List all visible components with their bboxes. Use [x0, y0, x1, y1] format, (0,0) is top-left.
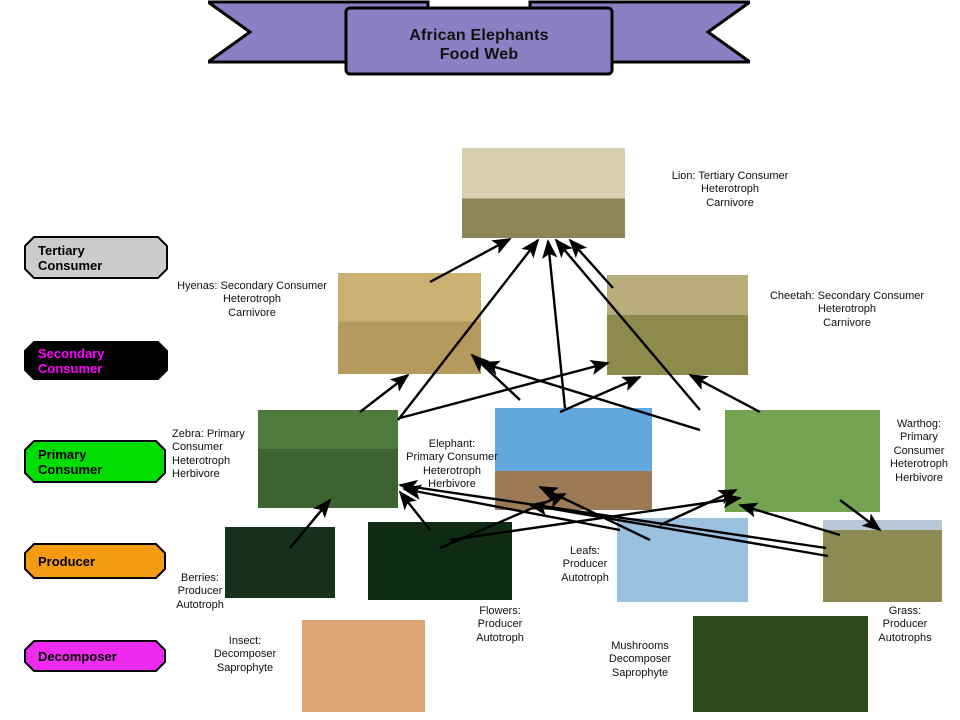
- photo-image-hyena: [338, 273, 481, 374]
- level-tag-tertiary[interactable]: Tertiary Consumer: [24, 236, 169, 280]
- photo-image-berries: [225, 527, 335, 598]
- level-tag-label-primary: Primary Consumer: [38, 447, 102, 477]
- title-banner: African Elephants Food Web: [208, 0, 750, 78]
- arrow-zebra-to-hyena: [360, 375, 408, 412]
- caption-grass: Grass: Producer Autotrophs: [862, 605, 948, 645]
- photo-insect[interactable]: [302, 620, 425, 712]
- photo-image-insect: [302, 620, 425, 712]
- photo-image-grass: [823, 520, 942, 602]
- level-tag-label-secondary: Secondary Consumer: [38, 346, 104, 376]
- arrow-warthog-to-cheetah: [690, 375, 760, 412]
- caption-insect: Insect: Decomposer Saprophyte: [200, 635, 290, 675]
- title-text-block: African Elephants Food Web: [208, 0, 750, 78]
- photo-image-warthog: [725, 410, 880, 512]
- title-line-1: African Elephants: [409, 26, 548, 45]
- photo-lion[interactable]: [462, 148, 625, 238]
- caption-zebra: Zebra: Primary Consumer Heterotroph Herb…: [172, 428, 258, 482]
- photo-zebra[interactable]: [258, 410, 398, 508]
- arrow-elephant-to-cheetah: [560, 377, 640, 412]
- photo-leafs[interactable]: [617, 518, 748, 602]
- photo-mushrooms[interactable]: [693, 616, 868, 712]
- level-tag-producer[interactable]: Producer: [24, 543, 167, 580]
- caption-lion: Lion: Tertiary Consumer Heterotroph Carn…: [646, 170, 814, 210]
- photo-image-mushrooms: [693, 616, 868, 712]
- title-line-2: Food Web: [440, 45, 519, 64]
- photo-hyena[interactable]: [338, 273, 481, 374]
- photo-elephant[interactable]: [495, 408, 652, 510]
- photo-warthog[interactable]: [725, 410, 880, 512]
- photo-image-elephant: [495, 408, 652, 510]
- level-tag-label-tertiary: Tertiary Consumer: [38, 243, 102, 273]
- caption-elephant: Elephant: Primary Consumer Heterotroph H…: [404, 438, 500, 492]
- level-tag-secondary[interactable]: Secondary Consumer: [24, 341, 169, 381]
- caption-mushrooms: Mushrooms Decomposer Saprophyte: [592, 640, 688, 680]
- photo-flowers[interactable]: [368, 522, 512, 600]
- photo-image-lion: [462, 148, 625, 238]
- photo-cheetah[interactable]: [607, 275, 748, 375]
- level-tag-primary[interactable]: Primary Consumer: [24, 440, 167, 484]
- arrow-elephant-to-lion: [548, 241, 565, 408]
- photo-image-flowers: [368, 522, 512, 600]
- photo-grass[interactable]: [823, 520, 942, 602]
- caption-leafs: Leafs: Producer Autotroph: [545, 545, 625, 585]
- food-web-canvas: African Elephants Food Web Tertiary Cons…: [0, 0, 960, 720]
- photo-image-leafs: [617, 518, 748, 602]
- photo-berries[interactable]: [225, 527, 335, 598]
- caption-cheetah: Cheetah: Secondary Consumer Heterotroph …: [758, 290, 936, 330]
- caption-warthog: Warthog: Primary Consumer Heterotroph He…: [884, 418, 954, 485]
- caption-berries: Berries: Producer Autotroph: [162, 572, 238, 612]
- level-tag-label-producer: Producer: [38, 554, 95, 569]
- caption-flowers: Flowers: Producer Autotroph: [455, 605, 545, 645]
- photo-image-cheetah: [607, 275, 748, 375]
- level-tag-decomposer[interactable]: Decomposer: [24, 640, 167, 673]
- level-tag-label-decomposer: Decomposer: [38, 649, 117, 664]
- caption-hyena: Hyenas: Secondary Consumer Heterotroph C…: [166, 280, 338, 320]
- photo-image-zebra: [258, 410, 398, 508]
